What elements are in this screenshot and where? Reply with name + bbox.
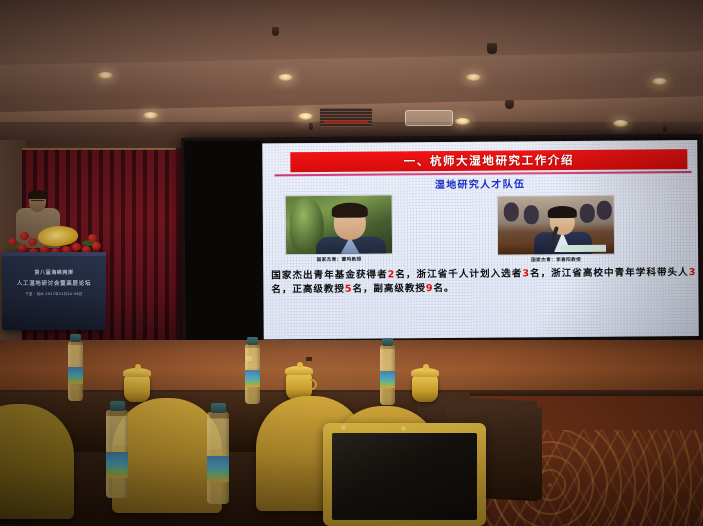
slide-photo-left — [285, 194, 393, 255]
sprinkler-head-icon — [505, 100, 514, 109]
bottle-label — [380, 371, 395, 388]
stage-floor-sheen — [0, 340, 703, 394]
sprinkler-head-icon — [309, 123, 313, 130]
slide-title: 一、杭师大湿地研究工作介绍 — [404, 152, 574, 169]
slide-body-fragment: 名，浙江省高校中青年学科带头人 — [530, 267, 689, 279]
slide-body-number: 5 — [345, 283, 353, 294]
red-rose — [18, 244, 27, 252]
ceiling-downlight — [613, 120, 628, 127]
ceiling-downlight — [278, 74, 293, 81]
podium-banner-line1: 第八届海峡两岸 — [2, 269, 106, 276]
ceiling — [0, 0, 703, 150]
audience-member — [580, 204, 595, 223]
ceiling-downlight — [466, 74, 481, 81]
speaker-hair — [28, 190, 47, 199]
water-bottle[interactable] — [68, 341, 83, 401]
bottle-label — [245, 370, 260, 387]
ceiling-downlight — [652, 78, 667, 85]
bottle-label — [106, 452, 128, 478]
red-rose — [8, 238, 17, 246]
monitor-indicator-dot — [401, 426, 406, 431]
podium-banner-line2: 人工湿地研讨会暨高层论坛 — [2, 279, 106, 287]
ceiling-downlight — [455, 118, 470, 125]
podium-banner-line3: 宁波 · 杭州 2017年11月24-26日 — [2, 291, 106, 296]
audience-member — [597, 201, 612, 220]
red-rose — [72, 243, 81, 251]
ceiling-downlight — [98, 72, 113, 79]
podium-top-edge — [2, 252, 106, 256]
red-rose — [20, 232, 29, 240]
slide-body-text: 国家杰出青年基金获得者2名，浙江省千人计划入选者3名，浙江省高校中青年学科带头人… — [271, 266, 696, 296]
bottle-cap — [382, 338, 393, 346]
slide-body-fragment: 名。 — [433, 282, 454, 293]
speaker-podium: 第八届海峡两岸 人工湿地研讨会暨高层论坛 宁波 · 杭州 2017年11月24-… — [2, 252, 106, 330]
water-bottle[interactable] — [245, 344, 260, 404]
presentation-slide: 一、杭师大湿地研究工作介绍 湿地研究人才队伍 国家杰青：董鸣教授 — [262, 140, 699, 339]
sprinkler-head-icon — [487, 43, 497, 54]
bottle-cap — [70, 334, 81, 342]
ceiling-air-vent — [320, 108, 372, 127]
water-bottle[interactable] — [380, 345, 395, 405]
screen-dark-margin — [184, 140, 266, 343]
red-rose — [28, 238, 37, 246]
slide-subtitle: 湿地研究人才队伍 — [263, 174, 698, 192]
tea-cup-knob — [297, 362, 303, 368]
slide-body-number: 2 — [388, 269, 396, 280]
slide-photo-left-caption: 国家杰青：董鸣教授 — [285, 256, 393, 263]
person-hair — [548, 206, 577, 218]
slide-body-fragment: 国家杰出青年基金获得者 — [271, 269, 387, 281]
water-bottle[interactable] — [207, 412, 229, 504]
person-hair — [332, 203, 368, 218]
bottle-label — [207, 456, 229, 482]
stage-floor — [0, 340, 703, 394]
tea-cup[interactable] — [124, 375, 150, 402]
tea-cup-knob — [423, 364, 429, 370]
ceiling-light-panel — [405, 110, 453, 126]
desk-monitor[interactable] — [323, 423, 486, 526]
floor-cable-port — [306, 357, 312, 361]
sprinkler-head-icon — [272, 27, 279, 36]
ceiling-downlight — [143, 112, 158, 119]
slide-photo-right — [497, 195, 615, 256]
water-bottle[interactable] — [106, 410, 128, 498]
ceiling-downlight — [298, 113, 313, 120]
red-rose — [92, 242, 101, 250]
document-on-table — [560, 245, 606, 252]
bottle-label — [68, 367, 83, 384]
slide-body-number: 3 — [522, 268, 530, 279]
bottle-cap — [211, 403, 226, 413]
projection-screen: 一、杭师大湿地研究工作介绍 湿地研究人才队伍 国家杰青：董鸣教授 — [181, 134, 703, 346]
bottle-cap — [110, 401, 125, 411]
conference-chair[interactable] — [112, 398, 222, 513]
tea-cup[interactable] — [412, 375, 438, 402]
slide-body-fragment: 名，副高级教授 — [352, 283, 426, 295]
slide-body-fragment: 名，浙江省千人计划入选者 — [395, 268, 522, 280]
red-rose — [88, 234, 97, 242]
ceiling-vent-indicator — [324, 120, 368, 124]
slide-photo-right-caption: 国家杰青：李春阳教授 — [497, 257, 615, 264]
bottle-cap — [247, 337, 258, 345]
monitor-indicator-dot — [341, 425, 346, 430]
slide-body-fragment: 名，正高级教授 — [271, 283, 345, 295]
speaker-glasses-icon — [31, 200, 44, 203]
slide-body-number: 3 — [689, 267, 697, 278]
monitor-screen — [332, 433, 477, 520]
sprinkler-head-icon — [663, 125, 667, 132]
audience-member — [504, 202, 519, 221]
conference-room-photo: 一、杭师大湿地研究工作介绍 湿地研究人才队伍 国家杰青：董鸣教授 — [0, 0, 703, 526]
slide-title-banner: 一、杭师大湿地研究工作介绍 — [290, 149, 687, 172]
audience-member — [524, 205, 539, 224]
tea-cup-knob — [135, 364, 141, 370]
